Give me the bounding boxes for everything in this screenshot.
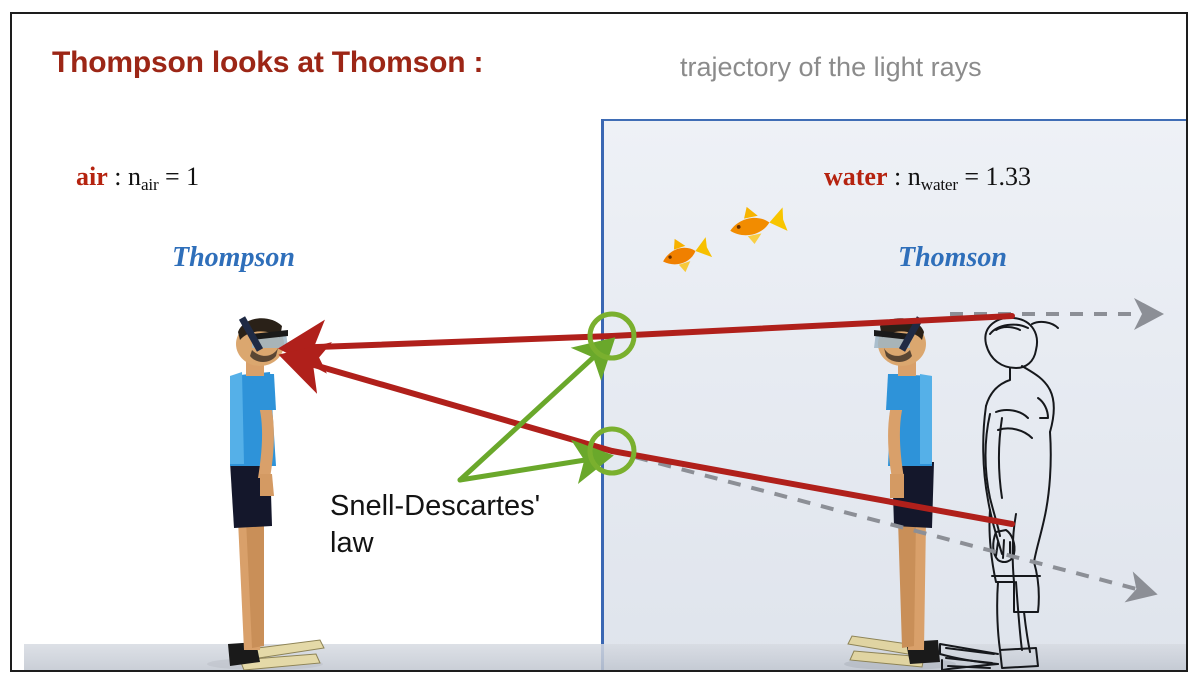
slide-frame: Thompson looks at Thomson : trajectory o… — [10, 12, 1188, 672]
air-equals: = — [159, 162, 187, 191]
law-line-1: Snell-Descartes' — [330, 490, 540, 522]
fish-icon — [658, 230, 714, 278]
slide-canvas: Thompson looks at Thomson : trajectory o… — [0, 0, 1200, 687]
water-index-value: 1.33 — [986, 162, 1032, 191]
snell-descartes-law-label: Snell-Descartes' law — [330, 488, 630, 562]
slide-title: Thompson looks at Thomson : — [52, 46, 483, 80]
slide-subtitle: trajectory of the light rays — [680, 52, 982, 83]
water-separator: : — [888, 162, 908, 191]
air-separator: : — [108, 162, 128, 191]
diver-thomson-virtual-image — [940, 314, 1080, 672]
hand — [260, 474, 274, 496]
water-index-symbol: n — [908, 162, 921, 191]
label-thompson: Thompson — [172, 242, 295, 274]
air-index-subscript: air — [141, 175, 159, 194]
fish-icon — [726, 200, 789, 249]
hand — [890, 474, 904, 498]
law-line-2: law — [330, 527, 374, 559]
air-index-symbol: n — [128, 162, 141, 191]
water-equals: = — [958, 162, 986, 191]
label-thomson: Thomson — [898, 242, 1007, 274]
water-index-subscript: water — [921, 175, 958, 194]
air-index-value: 1 — [186, 162, 199, 191]
diver-thompson-figure — [190, 314, 350, 672]
air-index-label: air : nair = 1 — [76, 162, 199, 195]
air-medium-name: air — [76, 162, 108, 191]
water-index-label: water : nwater = 1.33 — [824, 162, 1031, 195]
water-medium-name: water — [824, 162, 888, 191]
